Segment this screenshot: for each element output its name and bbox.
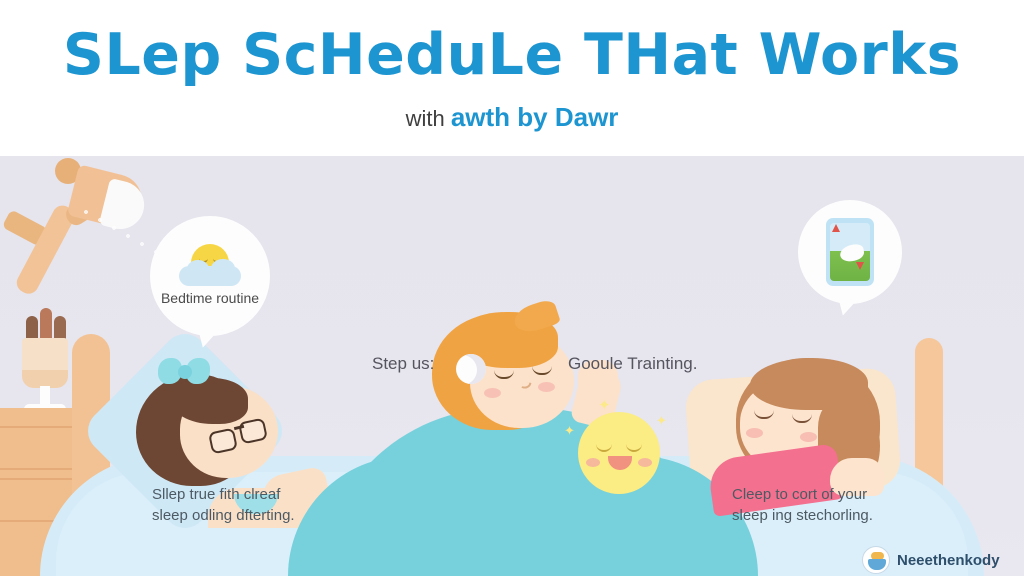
phone-photo-icon [826, 218, 874, 286]
brand-name: Neeethenkody [897, 552, 1000, 569]
header: SLep ScHeduLe THat Works with awth by Da… [0, 0, 1024, 156]
illustration-scene: ✦ ✦ ✦ Step us: Gooule Trainting. [0, 156, 1024, 576]
page-title: SLep ScHeduLe THat Works [0, 22, 1024, 88]
sparkle-star-icon: ✦ [598, 398, 611, 413]
infographic-page: SLep ScHeduLe THat Works with awth by Da… [0, 0, 1024, 576]
crescent-moon-icon [456, 354, 486, 384]
hair-bow-knot-icon [178, 365, 192, 379]
cloud-icon [179, 266, 241, 286]
sparkle-star-icon: ✦ [656, 414, 667, 427]
sparkle-star-icon: ✦ [564, 424, 575, 437]
blush-icon [638, 458, 652, 467]
marker-icon [832, 224, 840, 232]
blanket-skirt [288, 456, 758, 576]
bird-icon [839, 243, 865, 263]
step-label: Step us: [372, 354, 434, 374]
smiling-sun-character: ✦ ✦ ✦ [578, 412, 674, 508]
sun-cloud-icon [179, 244, 241, 286]
blush-icon [586, 458, 600, 467]
brand-logo[interactable]: Neeethenkody [862, 546, 1000, 574]
cup-badge-icon [862, 546, 890, 574]
caption-left: Sllep true fith clreaf sleep odling dfte… [152, 484, 295, 527]
speech-bubble-bedtime-routine[interactable]: Bedtime routine [150, 216, 270, 336]
caption-right: Cleep to cort of your sleep ing stechorl… [732, 484, 873, 527]
goal-label: Gooule Trainting. [568, 354, 697, 374]
blush-icon [800, 432, 817, 442]
speech-bubble-photo[interactable] [798, 200, 902, 304]
logo-cup-icon [868, 559, 886, 570]
page-subtitle: with awth by Dawr [0, 102, 1024, 133]
sun-disc-icon [578, 412, 660, 494]
subtitle-prefix: with [406, 106, 451, 131]
blush-icon [746, 428, 763, 438]
nightstand-drawer [0, 426, 82, 470]
subtitle-accent: awth by Dawr [451, 102, 619, 132]
bubble-label-bedtime-routine: Bedtime routine [161, 290, 259, 307]
blush-icon [538, 382, 555, 392]
blush-icon [484, 388, 501, 398]
marker-icon [856, 262, 864, 270]
